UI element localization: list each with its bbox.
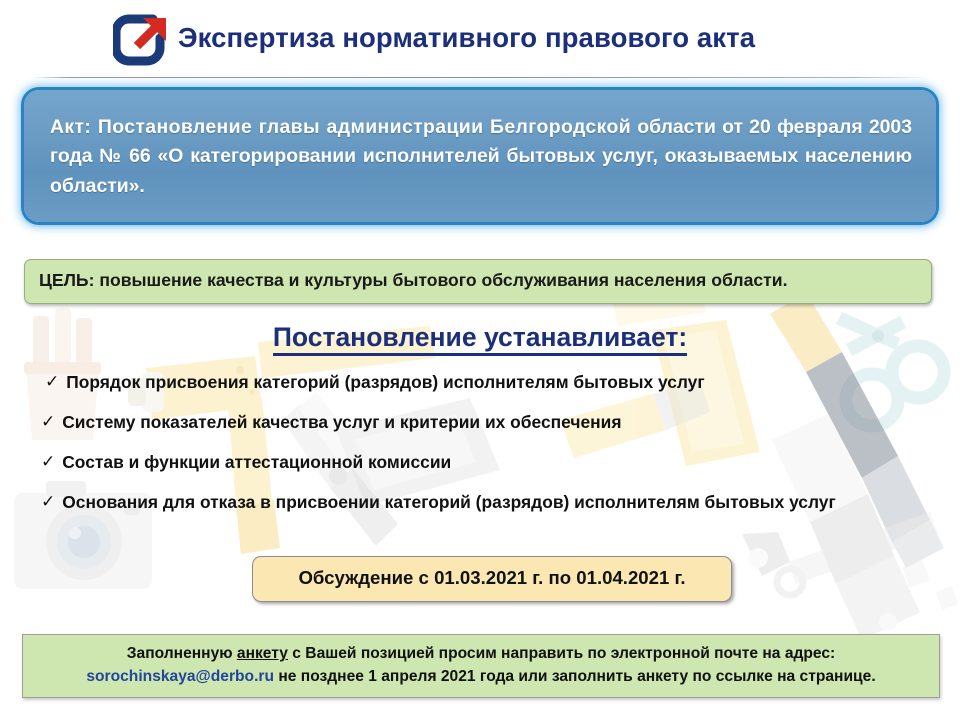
questionnaire-link[interactable]: анкету	[237, 645, 288, 662]
list-item-label: Порядок присвоения категорий (разрядов) …	[66, 372, 704, 393]
check-icon: ✓	[45, 372, 59, 392]
footer-instructions-box: Заполненную анкету с Вашей позицией прос…	[22, 634, 940, 698]
discussion-period-text: Обсуждение с 01.03.2021 г. по 01.04.2021…	[253, 567, 731, 589]
header-divider	[33, 77, 928, 78]
slide-header: Экспертиза нормативного правового акта	[0, 0, 960, 78]
discussion-period-box: Обсуждение с 01.03.2021 г. по 01.04.2021…	[252, 556, 732, 602]
act-description-box: Акт: Постановление главы администрации Б…	[24, 90, 936, 222]
check-icon: ✓	[41, 412, 55, 432]
act-description-text: Акт: Постановление главы администрации Б…	[50, 113, 912, 201]
establishes-list: ✓ Порядок присвоения категорий (разрядов…	[0, 372, 960, 532]
slide-canvas: Экспертиза нормативного правового акта А…	[0, 0, 960, 720]
footer-text-before-link: Заполненную	[127, 645, 237, 662]
list-item: ✓ Состав и функции аттестационной комисс…	[0, 452, 960, 473]
establishes-heading-label: Постановление устанавливает:	[273, 322, 687, 356]
page-title: Экспертиза нормативного правового акта	[178, 22, 755, 54]
act-text-line-1-tail: области	[637, 116, 716, 138]
list-item: ✓ Порядок присвоения категорий (разрядов…	[0, 372, 960, 393]
list-item-label: Состав и функции аттестационной комиссии	[62, 452, 451, 473]
act-text-line-1: Акт: Постановление главы администрации Б…	[50, 116, 631, 138]
arrow-out-of-box-logo-icon	[113, 14, 169, 66]
establishes-heading: Постановление устанавливает:	[0, 322, 960, 353]
footer-deadline-text: не позднее 1 апреля 2021 года или заполн…	[274, 668, 876, 685]
list-item-label: Систему показателей качества услуг и кри…	[62, 412, 621, 433]
footer-line-2: sorochinskaya@derbo.ru не позднее 1 апре…	[23, 668, 939, 686]
goal-box: ЦЕЛЬ: повышение качества и культуры быто…	[24, 259, 932, 304]
goal-text: ЦЕЛЬ: повышение качества и культуры быто…	[39, 270, 787, 291]
footer-line-1: Заполненную анкету с Вашей позицией прос…	[23, 645, 939, 663]
footer-text-after-link: с Вашей позицией просим направить по эле…	[288, 645, 835, 662]
list-item: ✓ Систему показателей качества услуг и к…	[0, 412, 960, 433]
list-item: ✓ Основания для отказа в присвоении кате…	[0, 492, 960, 513]
list-item-label: Основания для отказа в присвоении катего…	[62, 492, 835, 513]
email-link[interactable]: sorochinskaya@derbo.ru	[86, 668, 274, 685]
check-icon: ✓	[41, 492, 55, 512]
check-icon: ✓	[41, 452, 55, 472]
